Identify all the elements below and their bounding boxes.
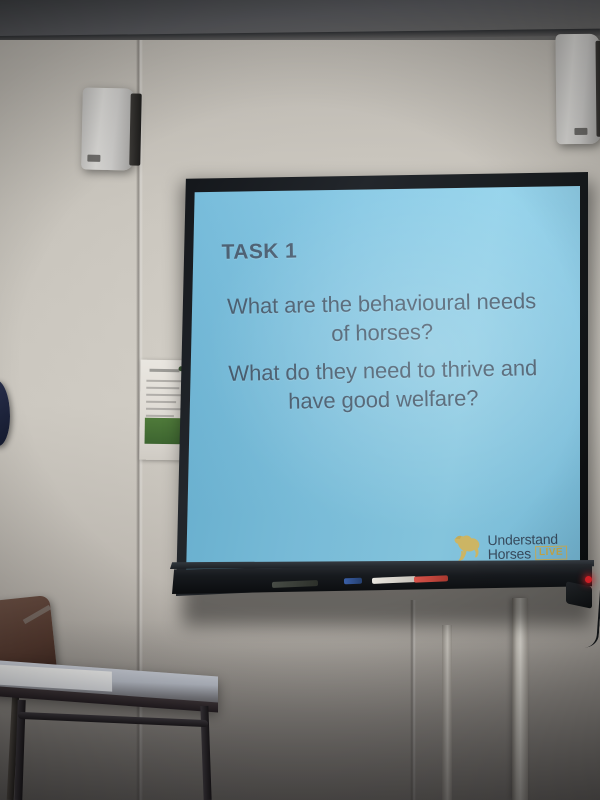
question-block-2: What do they need to thrive and have goo… [192,354,575,418]
smart-interactive-whiteboard[interactable]: SMART TASK 1 What are the behavioural ne… [176,172,594,624]
logo-line-2: Horses [488,547,531,562]
projected-screen[interactable]: TASK 1 What are the behavioural needs of… [186,186,580,578]
speaker-brand-chip [574,128,587,135]
smart-brand-label: SMART [204,174,225,180]
slide-title: TASK 1 [221,240,297,265]
logo-line-1: Understand [487,531,567,546]
speaker-bracket [129,93,142,165]
understand-horses-logo: Understand Horses LIVE [450,531,567,563]
wall-speaker-right [555,34,600,144]
question-block-1: What are the behavioural needs of horses… [190,287,573,351]
power-status-led [585,576,592,583]
wall-shadow-lower [0,620,600,800]
slide-body: What are the behavioural needs of horses… [190,287,574,428]
wall-speaker-left [81,87,135,170]
blue-marker[interactable] [344,578,362,585]
presentation-slide: TASK 1 What are the behavioural needs of… [186,186,580,578]
notice-text-line [146,401,176,403]
logo-wordmark: Understand Horses LIVE [487,531,567,561]
notice-text-line [146,415,174,417]
horse-icon [450,532,483,563]
classroom-photo: SMART TASK 1 What are the behavioural ne… [0,0,600,800]
notice-text-line [146,387,179,389]
speaker-brand-chip [88,154,101,161]
logo-live-badge: LIVE [535,545,567,560]
speaker-bracket [595,40,600,137]
logo-line-2-row: Horses LIVE [488,545,568,561]
